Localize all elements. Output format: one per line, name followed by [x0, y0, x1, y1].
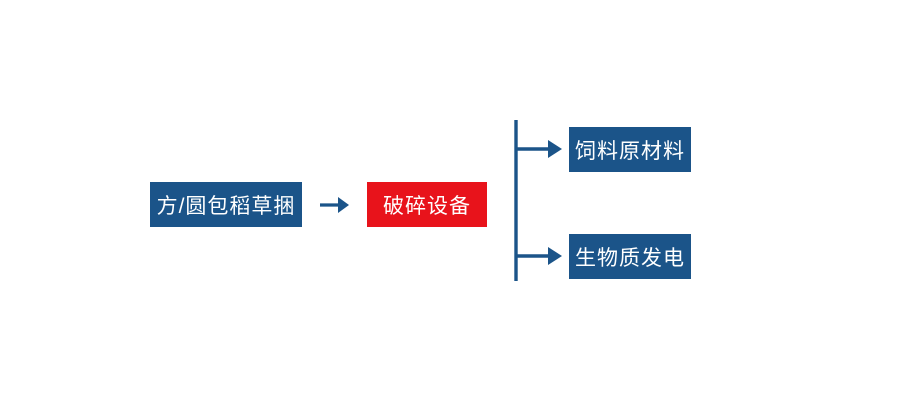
node-process-label: 破碎设备	[383, 190, 471, 220]
arrow-right-icon	[318, 190, 352, 220]
node-output-feed-material[interactable]: 饲料原材料	[569, 127, 691, 172]
node-output-biomass-power-label: 生物质发电	[575, 242, 685, 272]
node-output-biomass-power[interactable]: 生物质发电	[569, 234, 691, 279]
node-input-label: 方/圆包稻草捆	[157, 190, 296, 220]
node-input[interactable]: 方/圆包稻草捆	[150, 182, 302, 227]
node-output-feed-material-label: 饲料原材料	[575, 135, 685, 165]
branch-connector-icon	[512, 118, 572, 283]
process-flow-diagram: 方/圆包稻草捆 破碎设备 饲料原材料 生物质发电	[0, 0, 900, 411]
node-process[interactable]: 破碎设备	[367, 182, 487, 227]
